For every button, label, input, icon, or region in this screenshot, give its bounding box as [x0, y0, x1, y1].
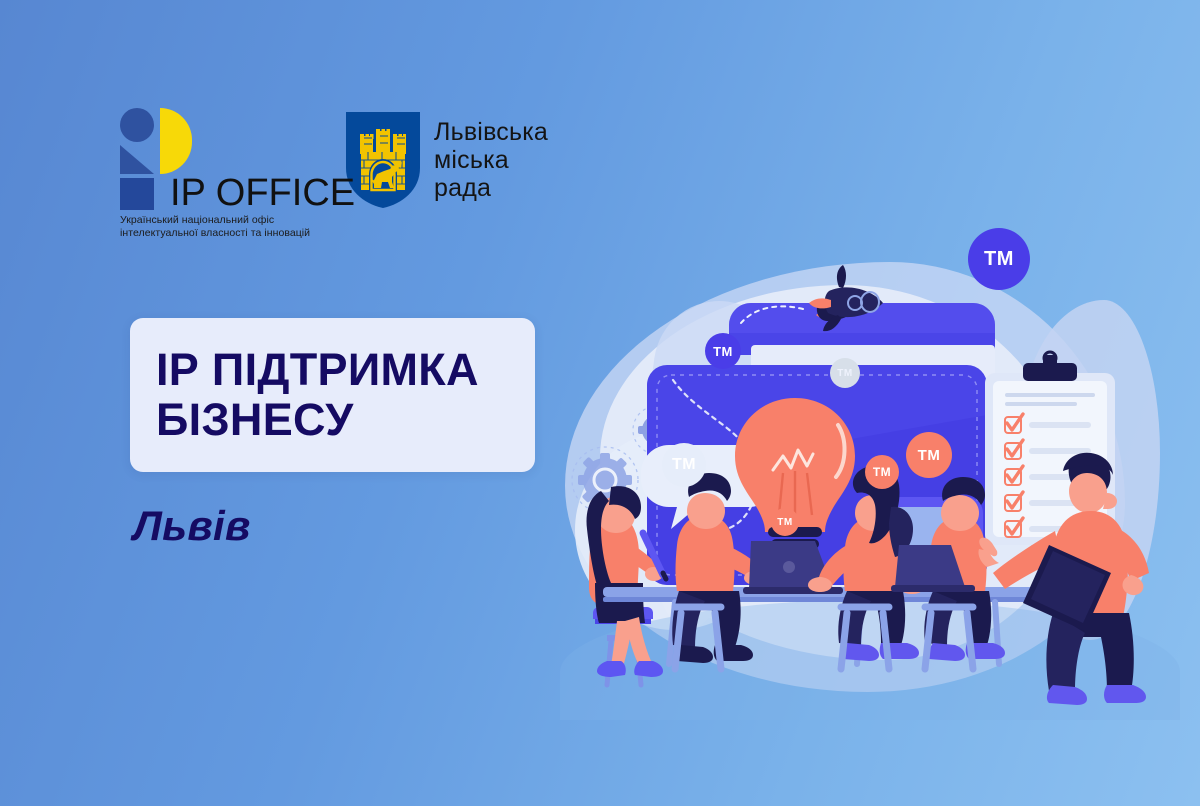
logomark-triangle-icon — [120, 145, 154, 174]
tm-badge: TM — [906, 432, 952, 478]
ip-office-logomark-icon: IP OFFICE — [120, 108, 218, 194]
tm-badge: TM — [705, 333, 741, 369]
city-label: Львів — [133, 502, 251, 550]
lviv-coat-of-arms-icon — [344, 110, 422, 210]
logomark-square-icon — [120, 178, 154, 210]
logomark-circle-icon — [120, 108, 154, 142]
poster-canvas: IP OFFICE Український національний офіс … — [0, 0, 1200, 806]
ip-office-wordmark: IP OFFICE — [170, 174, 355, 212]
tm-badge: TM — [968, 228, 1030, 290]
logomark-half-circle-icon — [160, 108, 192, 174]
logo-ip-office: IP OFFICE Український національний офіс … — [118, 108, 316, 194]
lviv-city-council-label: Львівська міська рада — [434, 118, 548, 202]
logo-row: IP OFFICE Український національний офіс … — [118, 108, 548, 210]
tm-badge: TM — [830, 358, 860, 388]
tm-badge: TM — [865, 455, 899, 489]
headline-card: ІР ПІДТРИМКА БІЗНЕСУ — [130, 318, 535, 472]
ip-office-subtitle: Український національний офіс інтелектуа… — [120, 214, 330, 241]
tm-badge: TM — [662, 443, 706, 487]
hero-illustration — [555, 215, 1180, 695]
tm-badge: TM — [771, 508, 799, 536]
logo-lviv-city-council: Львівська міська рада — [344, 110, 548, 210]
page-title: ІР ПІДТРИМКА БІЗНЕСУ — [130, 345, 479, 446]
illustration-svg — [555, 215, 1180, 695]
